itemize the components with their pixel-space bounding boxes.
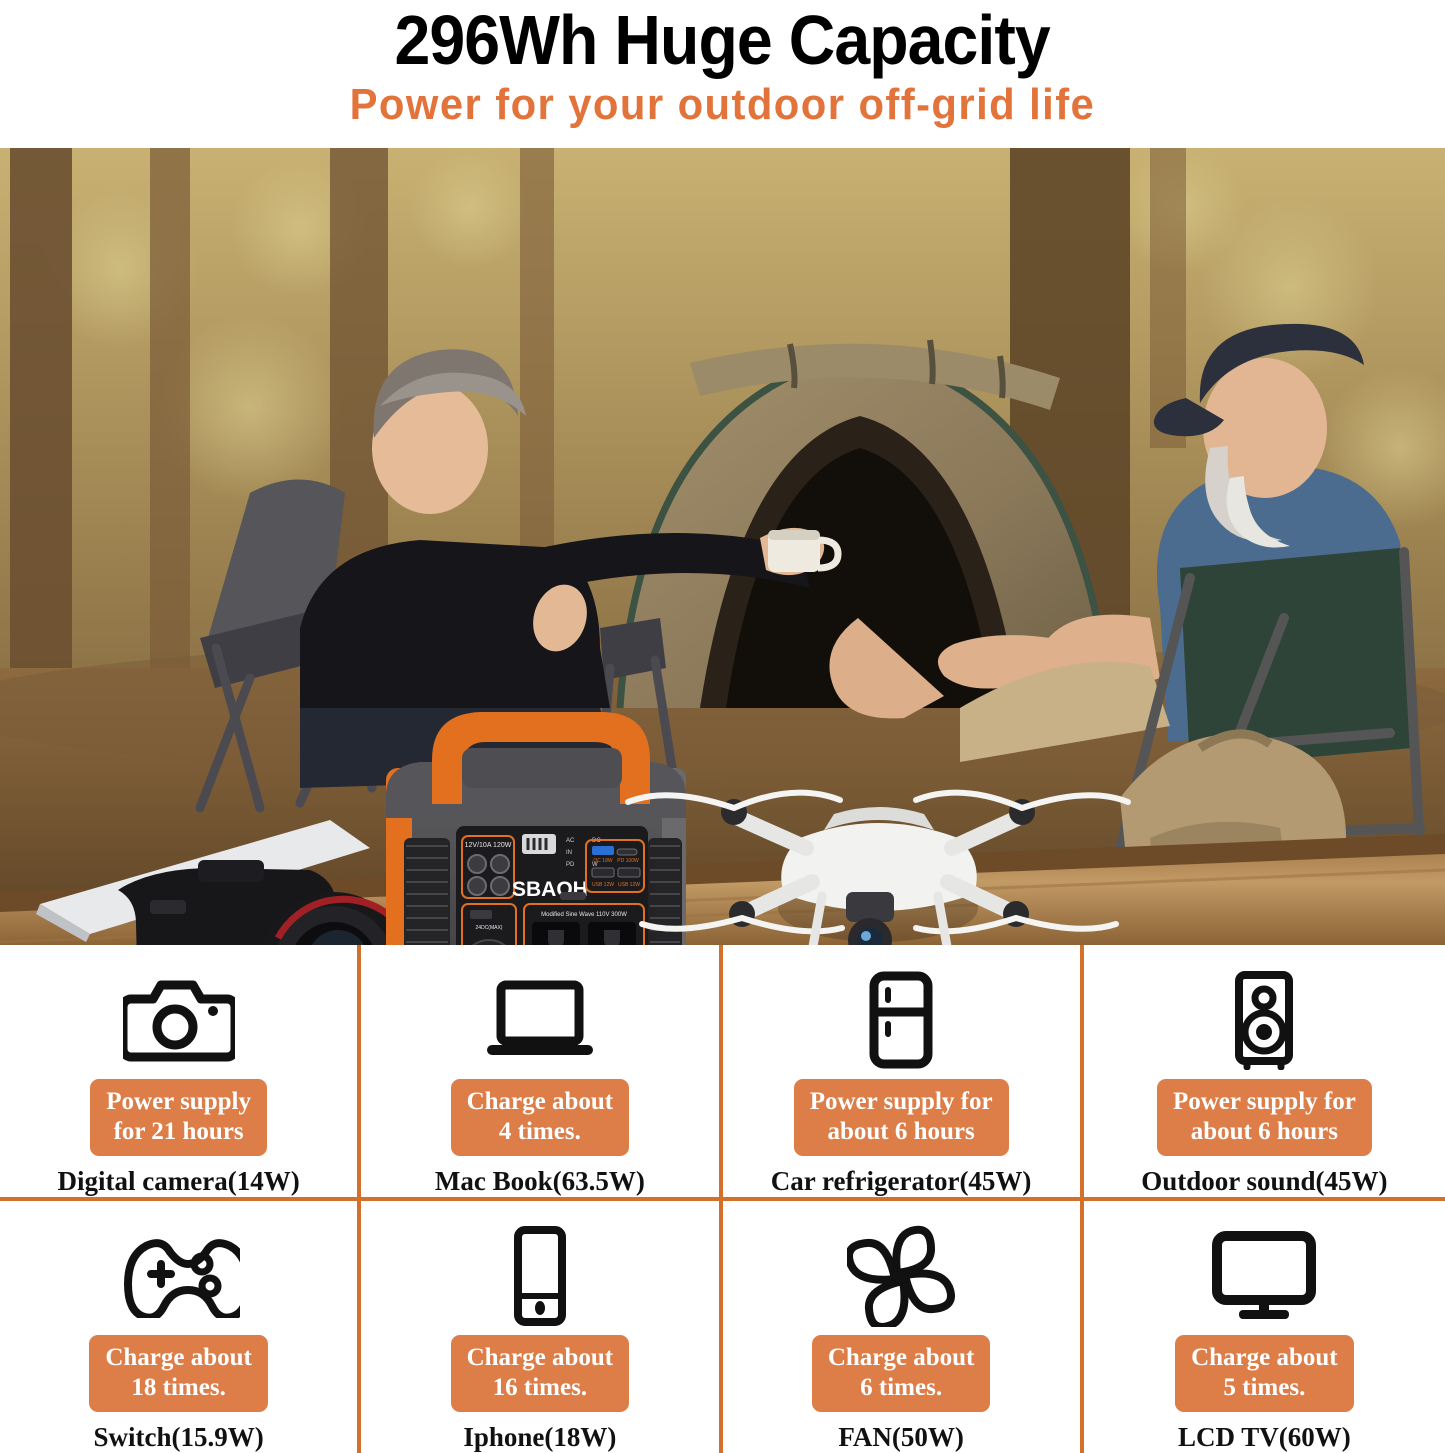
badge-line-1: Power supply [106, 1088, 251, 1115]
feature-label: Car refrigerator(45W) [771, 1165, 1032, 1197]
feature-label: Switch(15.9W) [94, 1421, 264, 1453]
laptop-icon [481, 961, 599, 1079]
svg-text:IN: IN [566, 850, 572, 856]
header: 296Wh Huge Capacity Power for your outdo… [0, 0, 1445, 148]
svg-text:Modified Sine Wave 110V 300W: Modified Sine Wave 110V 300W [541, 912, 627, 918]
page-title: 296Wh Huge Capacity [395, 2, 1050, 78]
smartphone-icon [512, 1217, 568, 1335]
feature-badge: Charge about 6 times. [812, 1335, 991, 1412]
feature-cell-iphone: Charge about 16 times. Iphone(18W) [361, 1201, 722, 1453]
feature-label: Iphone(18W) [463, 1421, 616, 1453]
badge-line-1: Charge about [467, 1088, 614, 1115]
feature-label: LCD TV(60W) [1178, 1421, 1351, 1453]
svg-text:USB 12W: USB 12W [618, 882, 640, 888]
badge-line-1: Charge about [1191, 1344, 1338, 1371]
refrigerator-icon [866, 961, 936, 1079]
feature-badge: Charge about 4 times. [451, 1079, 630, 1156]
feature-label: FAN(50W) [838, 1421, 963, 1453]
feature-label: Digital camera(14W) [58, 1165, 300, 1197]
svg-text:12V/10A 120W: 12V/10A 120W [465, 842, 512, 849]
svg-text:24DC(MAX): 24DC(MAX) [476, 925, 503, 931]
feature-badge: Power supply for 21 hours [90, 1079, 267, 1156]
feature-cell-mac-book: Charge about 4 times. Mac Book(63.5W) [361, 945, 722, 1201]
feature-badge: Charge about 16 times. [451, 1335, 630, 1412]
badge-line-1: Charge about [828, 1344, 975, 1371]
svg-text:PD 100W: PD 100W [617, 858, 639, 864]
speaker-icon [1229, 961, 1299, 1079]
feature-cell-fan: Charge about 6 times. FAN(50W) [723, 1201, 1084, 1453]
badge-line-2: about 6 hours [1191, 1118, 1338, 1145]
feature-grid: Power supply for 21 hours Digital camera… [0, 945, 1445, 1445]
feature-label: Mac Book(63.5W) [435, 1165, 645, 1197]
feature-cell-outdoor-sound: Power supply for about 6 hours Outdoor s… [1084, 945, 1445, 1201]
badge-line-2: 4 times. [499, 1118, 581, 1145]
feature-badge: Charge about 5 times. [1175, 1335, 1354, 1412]
badge-line-2: 18 times. [131, 1374, 225, 1401]
svg-text:QC 18W: QC 18W [593, 858, 612, 864]
badge-line-2: 16 times. [493, 1374, 587, 1401]
feature-label: Outdoor sound(45W) [1141, 1165, 1387, 1197]
product-marketing-image: 296Wh Huge Capacity Power for your outdo… [0, 0, 1445, 1445]
fan-icon [847, 1217, 955, 1335]
feature-badge: Power supply for about 6 hours [1157, 1079, 1372, 1156]
badge-line-2: about 6 hours [827, 1118, 974, 1145]
badge-line-2: for 21 hours [114, 1118, 244, 1145]
feature-cell-digital-camera: Power supply for 21 hours Digital camera… [0, 945, 361, 1201]
feature-badge: Power supply for about 6 hours [794, 1079, 1009, 1156]
feature-cell-car-refrigerator: Power supply for about 6 hours Car refri… [723, 945, 1084, 1201]
feature-cell-lcd-tv: Charge about 5 times. LCD TV(60W) [1084, 1201, 1445, 1453]
feature-cell-switch: Charge about 18 times. Switch(15.9W) [0, 1201, 361, 1453]
svg-text:PD: PD [566, 862, 575, 868]
svg-text:AC: AC [566, 838, 575, 844]
badge-line-2: 6 times. [860, 1374, 942, 1401]
badge-line-1: Charge about [105, 1344, 252, 1371]
badge-line-1: Power supply for [1173, 1088, 1356, 1115]
feature-badge: Charge about 18 times. [89, 1335, 268, 1412]
tv-icon [1209, 1217, 1319, 1335]
page-subtitle: Power for your outdoor off-grid life [350, 80, 1096, 130]
svg-text:USB 12W: USB 12W [592, 882, 614, 888]
badge-line-1: Power supply for [810, 1088, 993, 1115]
gamepad-icon [118, 1217, 240, 1335]
badge-line-2: 5 times. [1223, 1374, 1305, 1401]
hero-photo: 12V/10A 120W ACDC INUSB PDW SBAOH QC 18W [0, 148, 1445, 945]
badge-line-1: Charge about [467, 1344, 614, 1371]
camera-icon [123, 961, 235, 1079]
